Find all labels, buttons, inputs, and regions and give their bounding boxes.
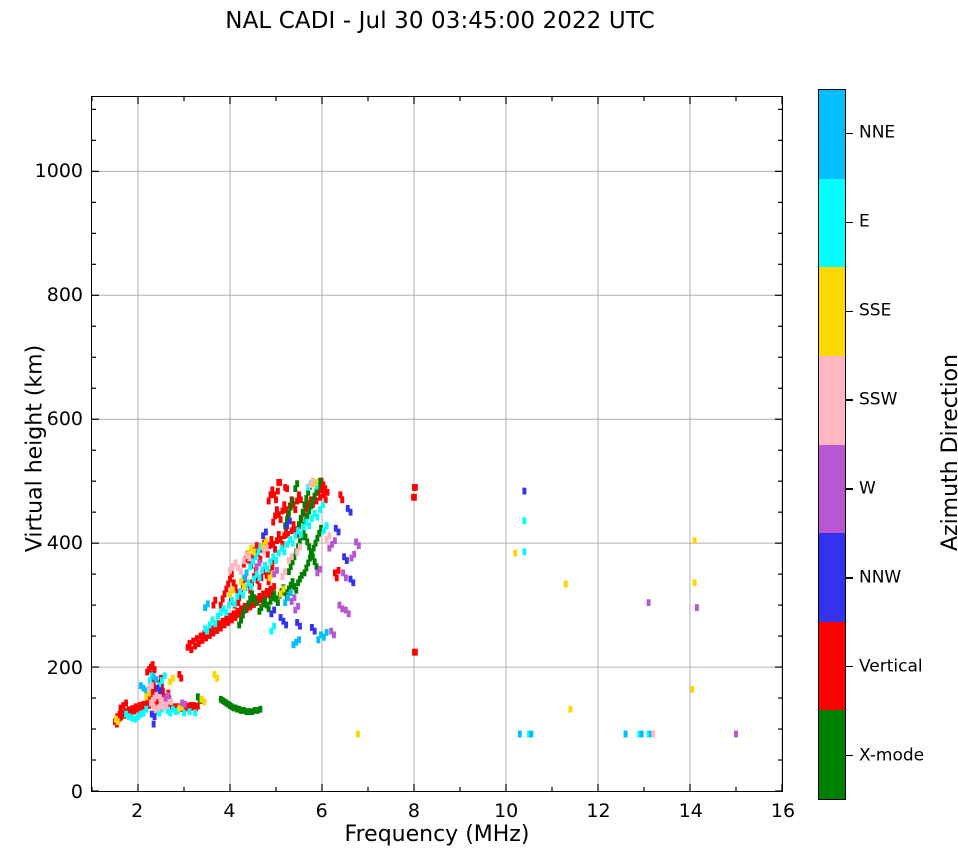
colorbar-segment-ssw <box>819 356 845 445</box>
data-marker <box>640 731 644 738</box>
data-marker <box>275 567 279 574</box>
data-marker <box>266 551 270 558</box>
data-marker <box>349 509 353 516</box>
data-marker <box>272 607 276 614</box>
data-marker <box>327 532 331 539</box>
data-marker <box>254 599 258 606</box>
data-markers <box>113 478 738 738</box>
data-marker <box>291 498 295 505</box>
data-marker <box>289 589 293 596</box>
data-marker <box>522 517 526 524</box>
data-marker <box>215 627 219 634</box>
data-marker <box>333 537 337 544</box>
data-marker <box>204 635 208 642</box>
data-marker <box>693 537 697 544</box>
data-marker <box>130 714 134 721</box>
data-marker <box>233 600 237 607</box>
colorbar-segment-nnw <box>819 533 845 622</box>
data-marker <box>266 566 270 573</box>
data-marker <box>179 675 183 682</box>
data-marker <box>258 706 262 713</box>
colorbar-tick-mark <box>846 311 853 312</box>
x-tick-label: 16 <box>753 800 813 822</box>
data-marker <box>522 548 526 555</box>
data-marker <box>290 553 294 560</box>
data-marker <box>647 599 651 606</box>
data-marker <box>335 574 339 581</box>
data-marker <box>219 625 223 632</box>
data-marker <box>298 623 302 630</box>
x-tick-label: 8 <box>384 800 444 822</box>
colorbar-tick-mark <box>846 755 853 756</box>
data-marker <box>252 548 256 555</box>
data-marker <box>124 700 128 707</box>
data-marker <box>213 620 217 627</box>
colorbar-segment-e <box>819 179 845 268</box>
data-marker <box>264 529 268 536</box>
data-marker <box>241 592 245 599</box>
data-marker <box>357 542 361 549</box>
data-marker <box>231 587 235 594</box>
colorbar-tick-mark <box>846 577 853 578</box>
data-marker <box>294 587 298 594</box>
x-tick-label: 4 <box>199 800 259 822</box>
data-marker <box>223 622 227 629</box>
data-marker <box>188 708 192 715</box>
data-marker <box>279 516 283 523</box>
colorbar-tick-text: E <box>859 212 870 232</box>
data-marker <box>318 478 322 485</box>
data-marker <box>568 706 572 713</box>
data-marker <box>315 514 319 521</box>
data-marker <box>325 629 329 636</box>
data-marker <box>337 567 341 574</box>
data-marker <box>193 710 197 717</box>
data-marker <box>158 687 162 694</box>
x-tick-label: 12 <box>568 800 628 822</box>
data-marker <box>518 731 522 738</box>
data-marker <box>255 542 259 549</box>
data-marker <box>213 597 217 604</box>
data-marker <box>153 713 157 720</box>
data-marker <box>285 485 289 492</box>
data-marker <box>272 583 276 590</box>
data-marker <box>624 731 628 738</box>
data-marker <box>298 543 302 550</box>
data-marker <box>290 527 294 534</box>
data-marker <box>200 637 204 644</box>
data-marker <box>288 517 292 524</box>
data-marker <box>323 485 327 492</box>
data-marker <box>189 646 193 653</box>
colorbar-tick-text: NNW <box>859 567 901 587</box>
data-marker <box>299 496 303 503</box>
plot-area <box>91 96 783 792</box>
data-marker <box>304 495 308 502</box>
data-marker <box>206 600 210 607</box>
x-tick-label: 2 <box>107 800 167 822</box>
data-marker <box>274 557 278 564</box>
colorbar-segment-sse <box>819 267 845 356</box>
data-marker <box>311 478 315 485</box>
plot-svg <box>92 97 782 791</box>
colorbar-segment-w <box>819 445 845 534</box>
data-marker <box>321 501 325 508</box>
data-marker <box>152 721 156 728</box>
data-marker <box>281 586 285 593</box>
data-marker <box>236 599 240 606</box>
data-marker <box>292 594 296 601</box>
data-marker <box>272 623 276 630</box>
data-marker <box>239 568 243 575</box>
data-marker <box>291 540 295 547</box>
colorbar-segment-vertical <box>819 622 845 711</box>
chart-title: NAL CADI - Jul 30 03:45:00 2022 UTC <box>0 8 880 34</box>
colorbar-segment-nne <box>819 90 845 179</box>
colorbar-tick-text: NNE <box>859 123 895 143</box>
x-tick-label: 10 <box>476 800 536 822</box>
data-marker <box>166 692 170 699</box>
data-marker <box>356 731 360 738</box>
data-marker <box>273 546 277 553</box>
data-marker <box>182 710 186 717</box>
data-marker <box>197 640 201 647</box>
x-tick-label: 6 <box>292 800 352 822</box>
colorbar-tick-mark <box>846 488 853 489</box>
data-marker <box>295 480 299 487</box>
data-marker <box>171 675 175 682</box>
colorbar-tick-mark <box>846 399 853 400</box>
data-marker <box>318 494 322 501</box>
colorbar-tick-text: SSW <box>859 390 897 410</box>
data-marker <box>154 676 158 683</box>
data-marker <box>325 522 329 529</box>
data-marker <box>289 504 293 511</box>
data-marker <box>690 686 694 693</box>
data-marker <box>344 574 348 581</box>
data-marker <box>282 548 286 555</box>
data-marker <box>340 496 344 503</box>
data-marker <box>278 479 282 486</box>
data-marker <box>297 521 301 528</box>
data-marker <box>340 605 344 612</box>
colorbar-tick-mark <box>846 666 853 667</box>
data-marker <box>257 560 261 567</box>
data-marker <box>153 666 157 673</box>
data-marker <box>414 649 418 656</box>
data-marker <box>273 512 277 519</box>
colorbar-tick-text: Vertical <box>859 656 923 676</box>
data-marker <box>226 619 230 626</box>
gridlines <box>92 97 782 791</box>
colorbar-tick-text: W <box>859 478 876 498</box>
data-marker <box>276 599 280 606</box>
data-marker <box>734 731 738 738</box>
x-axis-label: Frequency (MHz) <box>91 822 783 847</box>
data-marker <box>116 718 120 725</box>
data-marker <box>347 610 351 617</box>
data-marker <box>296 603 300 610</box>
data-marker <box>413 494 417 501</box>
data-marker <box>301 509 305 516</box>
data-marker <box>564 581 568 588</box>
data-marker <box>205 628 209 635</box>
colorbar-tick-text: X-mode <box>859 745 924 765</box>
data-marker <box>651 731 655 738</box>
data-marker <box>284 622 288 629</box>
data-marker <box>332 631 336 638</box>
data-marker <box>163 672 167 679</box>
data-marker <box>307 522 311 529</box>
colorbar-tick-mark <box>846 222 853 223</box>
data-marker <box>315 563 319 570</box>
colorbar-segment-x-mode <box>819 710 845 799</box>
colorbar-tick-text: SSE <box>859 301 891 321</box>
data-marker <box>215 675 219 682</box>
data-marker <box>287 510 291 517</box>
data-marker <box>297 636 301 643</box>
data-marker <box>234 614 238 621</box>
data-marker <box>282 532 286 539</box>
data-marker <box>513 550 517 557</box>
data-marker <box>193 643 197 650</box>
data-marker <box>257 583 261 590</box>
data-marker <box>196 703 200 710</box>
data-marker <box>522 488 526 495</box>
x-tick-label: 14 <box>661 800 721 822</box>
data-marker <box>245 569 249 576</box>
data-marker <box>224 609 228 616</box>
colorbar-label: Azimuth Direction <box>938 97 958 808</box>
data-marker <box>295 498 299 505</box>
data-marker <box>299 515 303 522</box>
axis-ticks <box>92 97 782 791</box>
data-marker <box>169 698 173 705</box>
data-marker <box>150 682 154 689</box>
data-marker <box>257 574 261 581</box>
data-marker <box>249 583 253 590</box>
azimuth-colorbar <box>818 89 846 800</box>
data-marker <box>275 537 279 544</box>
data-marker <box>188 640 192 647</box>
data-marker <box>293 506 297 513</box>
data-marker <box>345 557 349 564</box>
data-marker <box>267 498 271 505</box>
data-marker <box>211 630 215 637</box>
data-marker <box>318 566 322 573</box>
figure-canvas: NAL CADI - Jul 30 03:45:00 2022 UTC 0200… <box>0 0 958 857</box>
data-marker <box>280 508 284 515</box>
colorbar-tick-mark <box>846 133 853 134</box>
data-marker <box>230 617 234 624</box>
data-marker <box>276 488 280 495</box>
data-marker <box>202 698 206 705</box>
data-marker <box>303 501 307 508</box>
data-marker <box>695 604 699 611</box>
data-marker <box>414 484 418 491</box>
data-marker <box>247 555 251 562</box>
data-marker <box>529 731 533 738</box>
data-marker <box>271 519 275 526</box>
data-marker <box>352 551 356 558</box>
data-marker <box>274 496 278 503</box>
data-marker <box>242 583 246 590</box>
data-marker <box>265 545 269 552</box>
data-marker <box>313 628 317 635</box>
data-marker <box>283 568 287 575</box>
data-marker <box>337 529 341 536</box>
data-marker <box>693 579 697 586</box>
data-marker <box>299 531 303 538</box>
data-marker <box>144 706 148 713</box>
data-marker <box>183 701 187 708</box>
y-axis-label: Virtual height (km) <box>23 101 48 797</box>
data-marker <box>243 607 247 614</box>
data-marker <box>351 579 355 586</box>
